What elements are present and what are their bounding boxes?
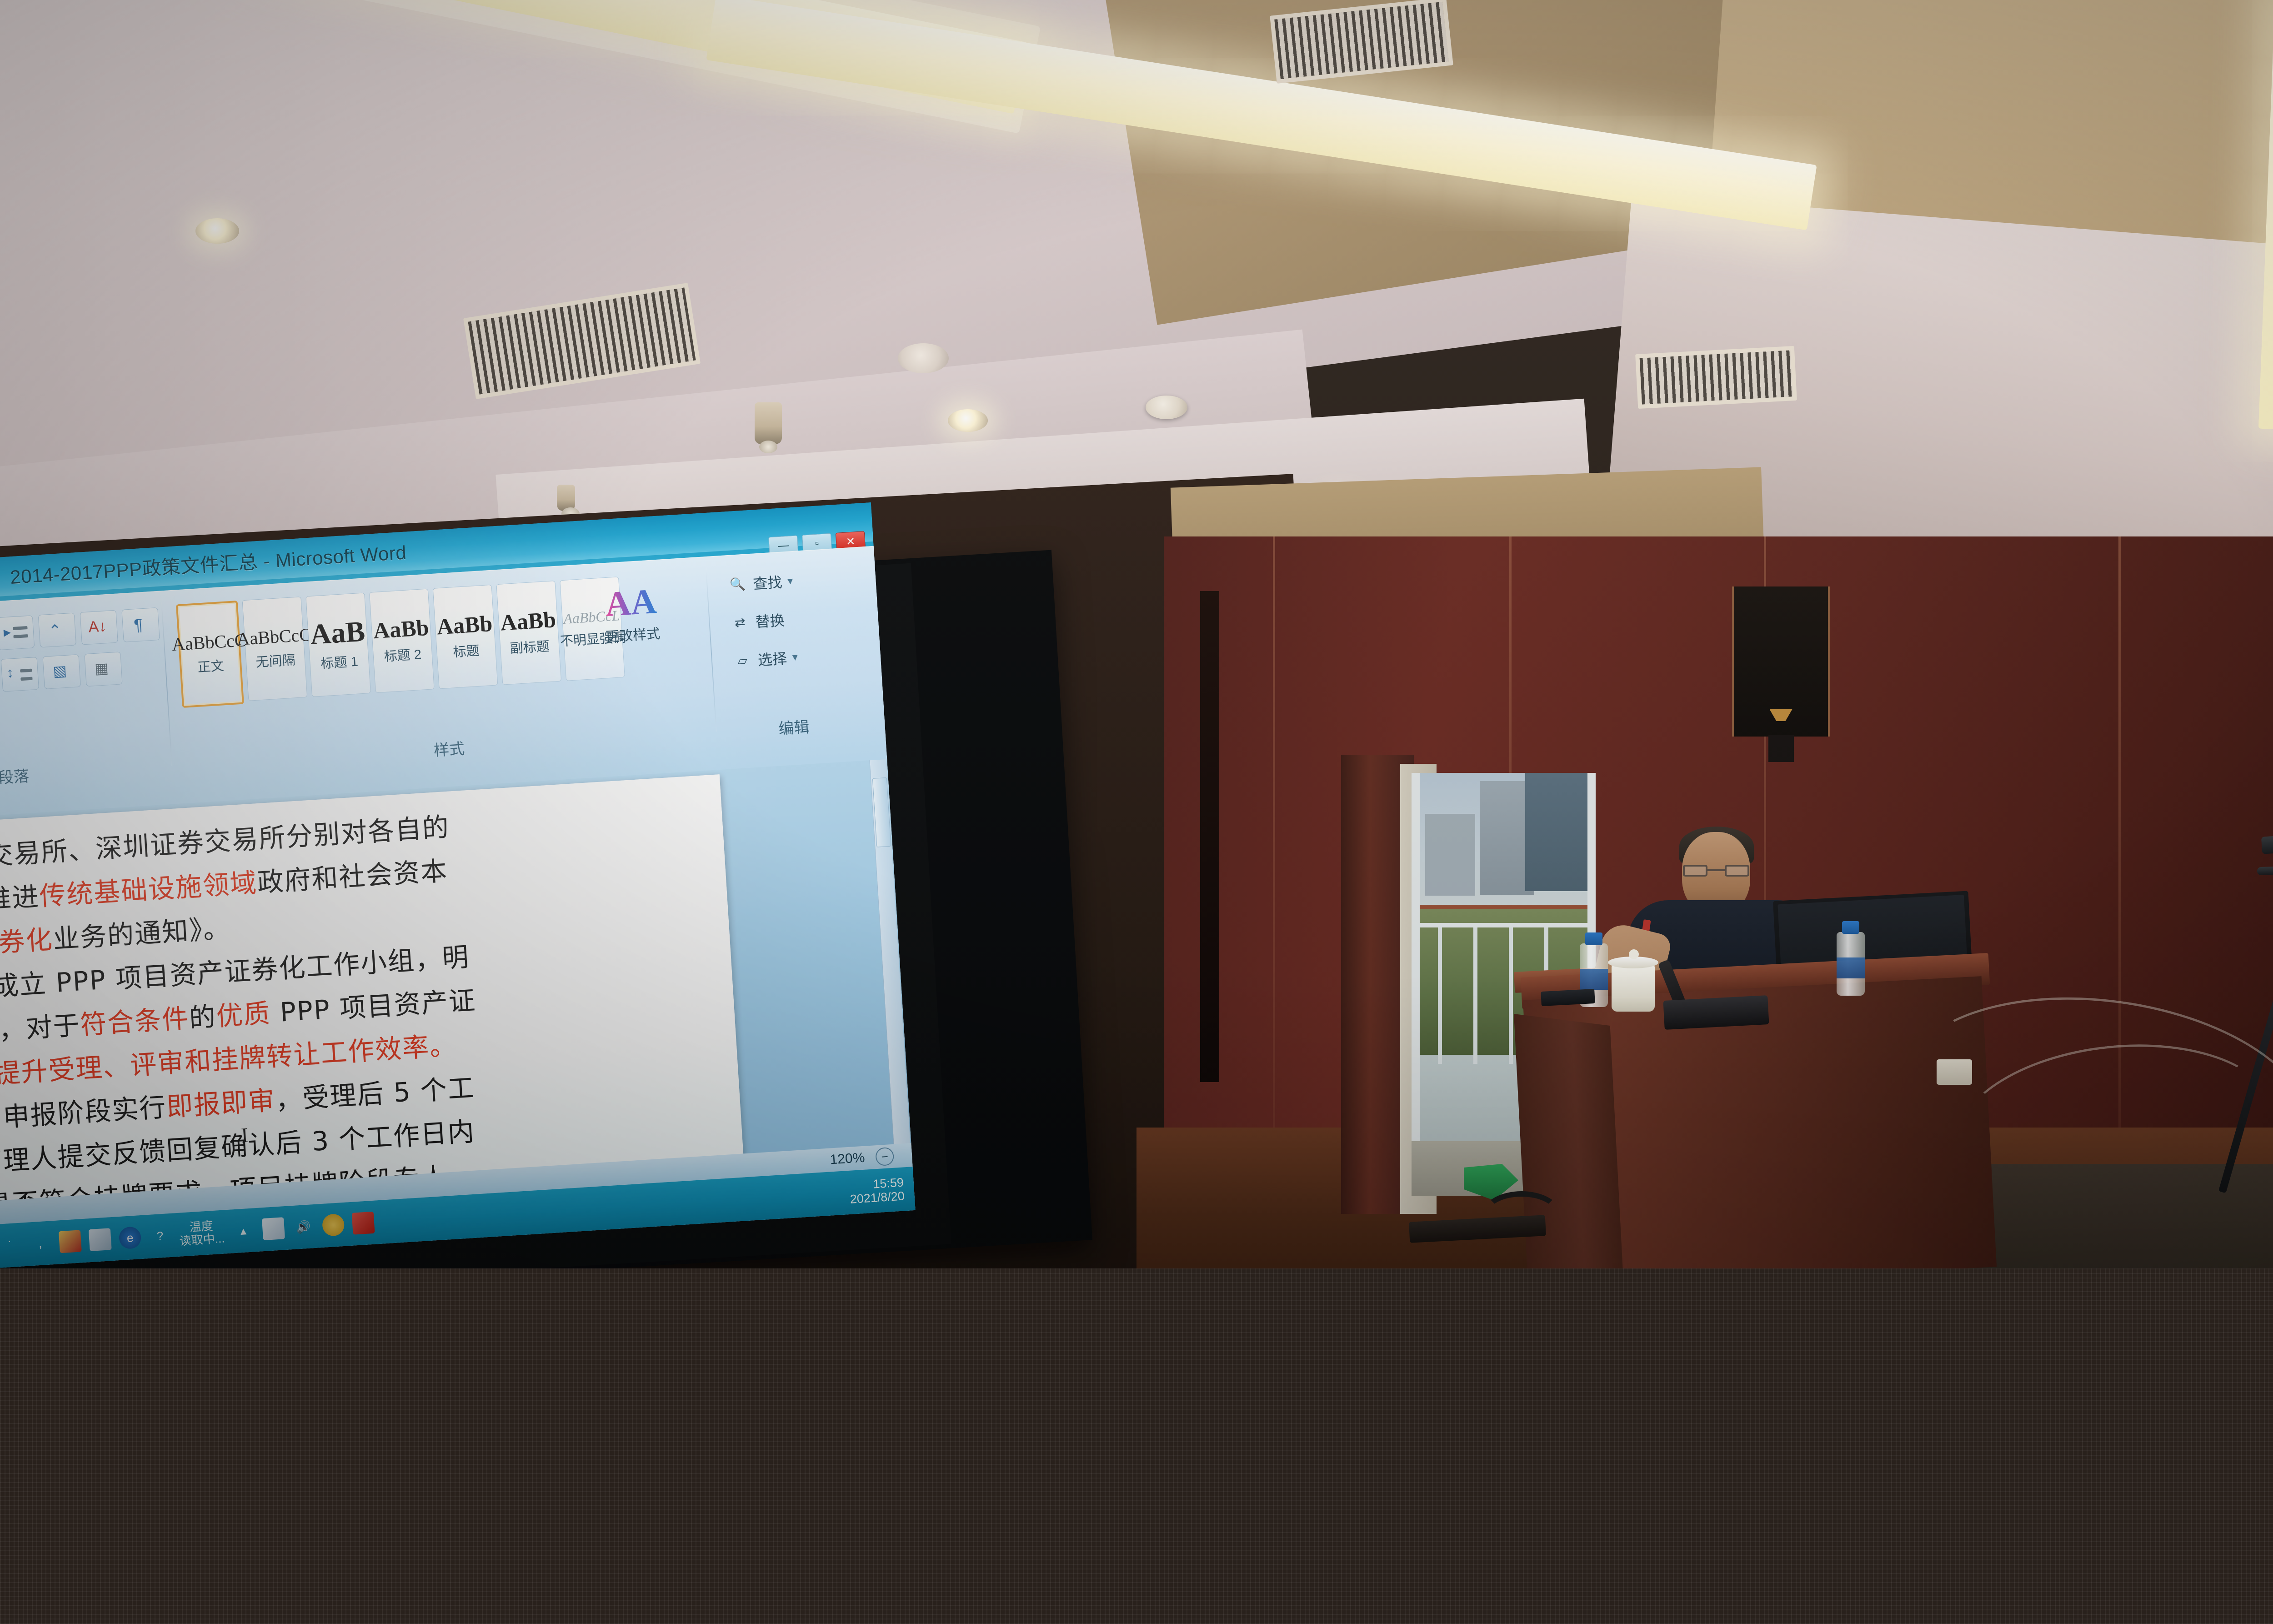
wall-recess-slot [1200,591,1219,1082]
group-label-paragraph: 段落 [0,755,173,797]
style-item-heading2[interactable]: AaBb 标题 2 [369,589,435,693]
style-name: 标题 1 [320,651,359,672]
window-frame [1412,773,1420,1196]
water-bottle [1837,932,1865,996]
style-item-normal[interactable]: AaBbCcC 正文 [176,601,244,708]
show-marks-icon[interactable]: ¶ [121,607,160,642]
paragraph-row-bottom: ◄► ↕ ▧ ▦ [0,652,123,702]
comma-icon[interactable]: , [29,1232,52,1255]
app-icon[interactable] [351,1212,375,1235]
ribbon-group-styles: AaBbCcC 正文 AaBbCcC 无间隔 AaB 标题 1 [171,564,718,779]
balcony-rail-top [1412,923,1596,927]
recessed-downlight [948,409,988,432]
pinyin-icon[interactable]: ˙ [0,1234,22,1257]
balcony-rail-bar [1509,927,1513,1064]
style-item-heading1[interactable]: AaB 标题 1 [305,592,371,697]
speaker-mount [1768,735,1794,762]
change-styles-icon: AA [604,585,657,620]
zoom-out-icon[interactable]: − [875,1147,894,1166]
change-styles-label: 更改样式 [605,622,661,646]
volume-icon[interactable]: 🔊 [292,1215,315,1238]
clock-time: 15:59 [872,1175,904,1191]
ie-icon[interactable]: e [119,1226,142,1249]
sprinkler-head [557,485,575,511]
search-icon: 🔍 [727,574,748,594]
smoke-detector [1146,396,1187,419]
find-label: 查找 [752,571,783,594]
sprinkler-head [755,402,782,444]
style-name: 标题 2 [383,644,422,665]
style-preview: AaBb [436,612,493,638]
projected-word-window[interactable]: 2014-2017PPP政策文件汇总 - Microsoft Word — ▫ … [0,502,916,1272]
photo-icon[interactable] [262,1217,285,1240]
tea-cup [1612,964,1655,1012]
style-name: 无间隔 [255,649,295,671]
style-name: 正文 [197,655,225,676]
balcony-rail-bar [1473,927,1477,1064]
replace-label: 替换 [755,609,785,632]
style-item-subtitle[interactable]: AaBb 副标题 [496,581,561,685]
letterbox-bar [0,1268,2273,1624]
ribbon-group-editing: 🔍 查找 ▾ ⇄ 替换 ▱ 选择 ▾ 编辑 [715,555,863,745]
tools-icon[interactable] [59,1230,82,1253]
chevron-up-icon[interactable]: ▴ [232,1219,255,1242]
find-button[interactable]: 🔍 查找 ▾ [727,570,794,595]
eyeglasses-icon [1682,865,1750,877]
style-preview: AaB [309,617,366,649]
style-name: 标题 [452,640,480,661]
help-icon[interactable]: ? [149,1224,172,1248]
speaker-logo-icon [1770,709,1792,721]
ribbon-group-paragraph: ◄ ► ⌃ A↓ ¶ [0,598,173,799]
zoom-level: 120% [830,1150,866,1168]
group-label-editing: 编辑 [725,711,862,742]
recessed-downlight [195,218,239,244]
taskbar-clock[interactable]: 15:59 2021/8/20 [849,1175,905,1206]
select-label: 选择 [757,647,788,670]
balcony-rail-bar [1438,927,1442,1064]
style-name: 副标题 [509,636,550,657]
tea-cup-knob [1629,949,1639,959]
replace-button[interactable]: ⇄ 替换 [729,609,785,633]
word-application-window: 2014-2017PPP政策文件汇总 - Microsoft Word — ▫ … [0,502,916,1272]
keyboard-icon[interactable] [89,1228,112,1251]
sort-az-icon[interactable]: A↓ [80,610,118,645]
text-cursor: I [240,1123,249,1148]
shading-icon[interactable]: ▧ [42,654,80,689]
microphone-base [1663,995,1769,1030]
style-preview: AaBbCcC [236,626,312,648]
tray-temperature-text: 温度读取中... [178,1219,225,1248]
screenshot-root: 2014-2017PPP政策文件汇总 - Microsoft Word — ▫ … [0,0,2273,1624]
select-button[interactable]: ▱ 选择 ▾ [732,647,799,672]
group-label-styles: 样式 [181,720,718,776]
city-building [1525,773,1593,891]
styles-gallery[interactable]: AaBbCcC 正文 AaBbCcC 无间隔 AaB 标题 1 [176,576,625,708]
bottle-label [1580,969,1608,990]
bottle-cap [1585,932,1602,945]
bottle-cap [1842,921,1859,934]
ceiling-speaker-dome [898,343,949,373]
bottle-label [1837,957,1865,978]
replace-icon: ⇄ [730,612,751,632]
style-item-no-spacing[interactable]: AaBbCcC 无间隔 [242,596,308,701]
select-icon: ▱ [732,651,753,670]
style-preview: AaBbCcC [171,631,247,654]
group-separator [161,602,173,766]
mobile-phone [1541,989,1595,1006]
group-separator [706,568,717,732]
wall-outlet [1937,1059,1972,1085]
wall-speaker [1732,586,1830,737]
paragraph-row-top: ◄ ► ⌃ A↓ ¶ [0,607,160,656]
change-styles-button[interactable]: AA 更改样式 [596,585,670,680]
borders-icon[interactable]: ▦ [84,652,122,687]
sort-icon[interactable]: ⌃ [38,613,76,648]
style-preview: AaBb [500,608,556,634]
city-building [1425,814,1475,896]
style-item-title[interactable]: AaBb 标题 [433,585,498,689]
conference-room-photo: 2014-2017PPP政策文件汇总 - Microsoft Word — ▫ … [0,0,2273,1273]
hvac-vent-right [1635,346,1797,409]
increase-indent-icon[interactable]: ► [0,615,35,650]
clock-date: 2021/8/20 [850,1189,905,1206]
shield-icon[interactable] [321,1213,345,1237]
line-spacing-icon[interactable]: ↕ [1,657,39,692]
style-preview: AaBb [373,616,430,642]
